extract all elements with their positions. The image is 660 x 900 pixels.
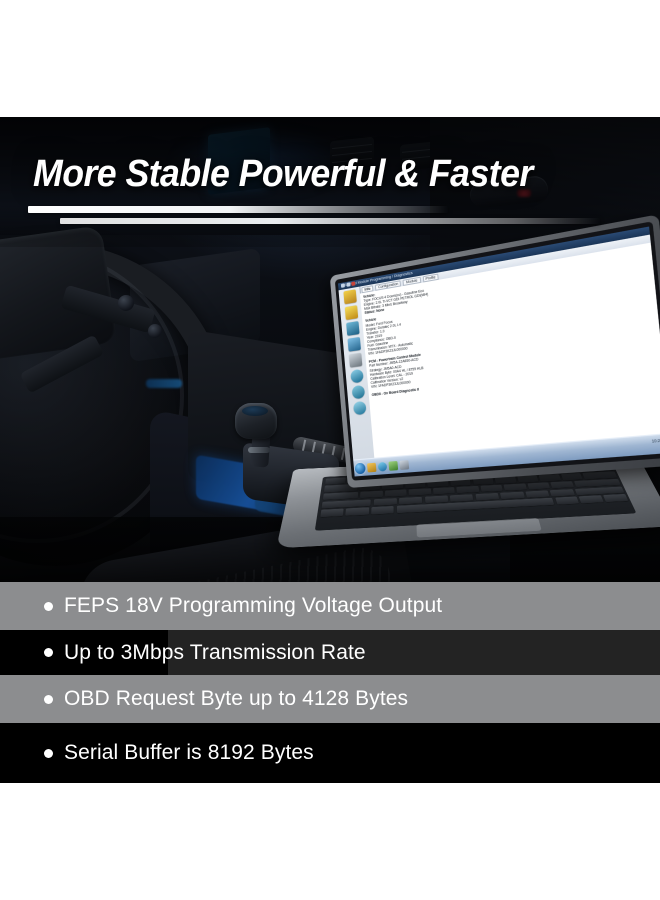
minimize-icon[interactable]	[341, 283, 345, 288]
key	[433, 487, 455, 495]
network-icon[interactable]	[346, 321, 359, 336]
vehicle-icon[interactable]	[343, 289, 356, 304]
module-icon[interactable]	[347, 337, 360, 352]
explorer-icon[interactable]	[367, 462, 377, 472]
bullet-icon	[44, 648, 53, 657]
key	[322, 492, 358, 500]
key	[320, 509, 344, 517]
feature-text: FEPS 18V Programming Voltage Output	[64, 594, 442, 618]
feature-row: OBD Request Byte up to 4128 Bytes	[0, 675, 660, 723]
feature-list: FEPS 18V Programming Voltage Output Up t…	[0, 582, 660, 780]
laptop-product-photo: IDS - Ford Module Programming / Diagnost…	[300, 265, 660, 595]
tools-icon[interactable]	[348, 353, 361, 368]
bullet-icon	[44, 749, 53, 758]
key	[525, 490, 550, 498]
key	[399, 497, 422, 505]
key	[551, 481, 574, 488]
taskbar-clock[interactable]: 10:24 AM	[652, 438, 660, 444]
page-bottom-whitespace	[0, 780, 660, 900]
key	[373, 498, 397, 506]
page-title: More Stable Powerful & Faster	[33, 152, 597, 196]
key	[603, 494, 628, 502]
key	[385, 489, 407, 497]
feature-text: Up to 3Mbps Transmission Rate	[64, 641, 366, 665]
browser-icon[interactable]	[378, 461, 388, 471]
steering-control-button-1	[118, 295, 134, 311]
key	[555, 497, 579, 505]
console-blue-accent-top	[146, 379, 182, 388]
laptop-screen: IDS - Ford Module Programming / Diagnost…	[338, 227, 660, 477]
key	[561, 473, 583, 480]
key	[345, 507, 369, 515]
key	[371, 506, 394, 514]
support-icon[interactable]	[353, 401, 367, 415]
key	[539, 474, 561, 481]
title-underline-lower	[60, 218, 600, 224]
start-button-icon[interactable]	[354, 462, 365, 474]
datalogger-icon[interactable]	[351, 385, 365, 399]
key	[480, 485, 503, 492]
key	[475, 493, 499, 501]
maximize-icon[interactable]	[346, 282, 350, 287]
key	[409, 488, 431, 496]
product-feature-banner: More Stable Powerful & Faster IDS - Ford…	[0, 0, 660, 900]
shifter-chrome-ring	[248, 447, 270, 453]
bullet-icon	[44, 602, 53, 611]
key	[550, 489, 575, 497]
feature-row: Up to 3Mbps Transmission Rate	[0, 630, 660, 675]
bullet-icon	[44, 695, 53, 704]
feature-text: OBD Request Byte up to 4128 Bytes	[64, 687, 408, 711]
key	[583, 471, 617, 479]
key	[425, 495, 449, 503]
shifter-knob-top	[242, 406, 268, 416]
media-icon[interactable]	[388, 460, 398, 470]
key	[517, 475, 539, 482]
key	[360, 491, 382, 499]
key	[500, 491, 524, 499]
key	[457, 486, 479, 494]
feature-row: FEPS 18V Programming Voltage Output	[0, 582, 660, 630]
feature-text: Serial Buffer is 8192 Bytes	[64, 741, 314, 765]
key	[579, 495, 604, 503]
title-underline-upper	[28, 206, 448, 213]
close-icon[interactable]	[351, 281, 355, 286]
steering-control-button-2	[148, 324, 162, 338]
key	[325, 477, 346, 484]
key	[527, 482, 550, 489]
settings-gear-icon[interactable]	[350, 369, 364, 384]
app-icon[interactable]	[399, 460, 409, 470]
key	[450, 494, 474, 502]
feature-row: Serial Buffer is 8192 Bytes	[0, 723, 660, 783]
warning-icon[interactable]	[344, 305, 357, 320]
key	[504, 483, 527, 490]
